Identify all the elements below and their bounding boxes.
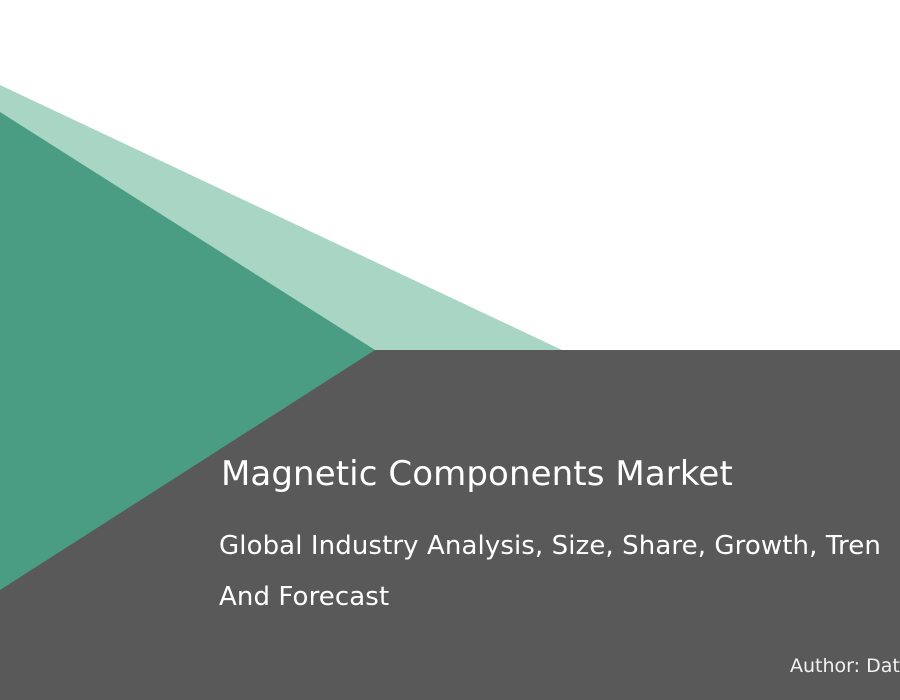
author-credit: Author: Data bbox=[790, 653, 900, 679]
page-title: Magnetic Components Market bbox=[221, 452, 733, 496]
cover-text-layer: Magnetic Components Market Global Indust… bbox=[0, 0, 900, 700]
report-cover-page: Magnetic Components Market Global Indust… bbox=[0, 0, 900, 700]
page-subtitle-line-1: Global Industry Analysis, Size, Share, G… bbox=[219, 521, 900, 572]
page-subtitle-line-2: And Forecast bbox=[219, 572, 389, 623]
